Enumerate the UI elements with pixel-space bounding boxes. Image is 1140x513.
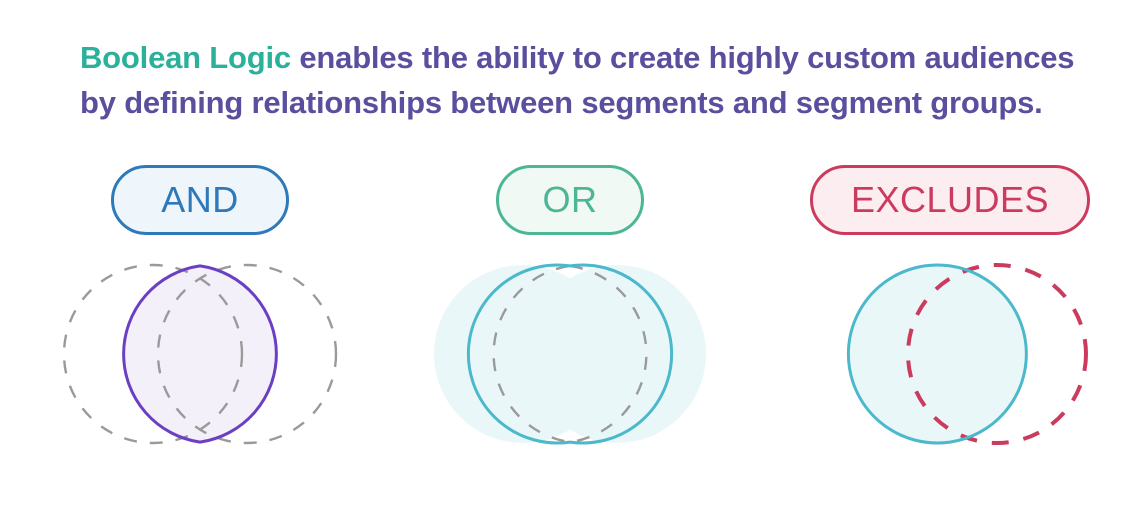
operator-pill-excludes[interactable]: EXCLUDES — [810, 165, 1090, 235]
operator-pill-or[interactable]: OR — [496, 165, 644, 235]
operator-card-and: AND — [10, 160, 390, 500]
operator-card-excludes: EXCLUDES — [760, 160, 1140, 500]
pill-wrap-or: OR — [380, 160, 760, 240]
venn-diagram-and — [10, 258, 390, 458]
venn-diagram-excludes — [760, 258, 1140, 458]
operator-card-or: OR — [380, 160, 760, 500]
or-union-fill — [434, 265, 706, 443]
venn-diagram-or — [380, 258, 760, 458]
operator-pill-and[interactable]: AND — [111, 165, 289, 235]
pill-wrap-and: AND — [10, 160, 390, 240]
page-title: Boolean Logic enables the ability to cre… — [80, 36, 1080, 126]
heading-accent-text: Boolean Logic — [80, 40, 291, 75]
pill-wrap-excludes: EXCLUDES — [760, 160, 1140, 240]
